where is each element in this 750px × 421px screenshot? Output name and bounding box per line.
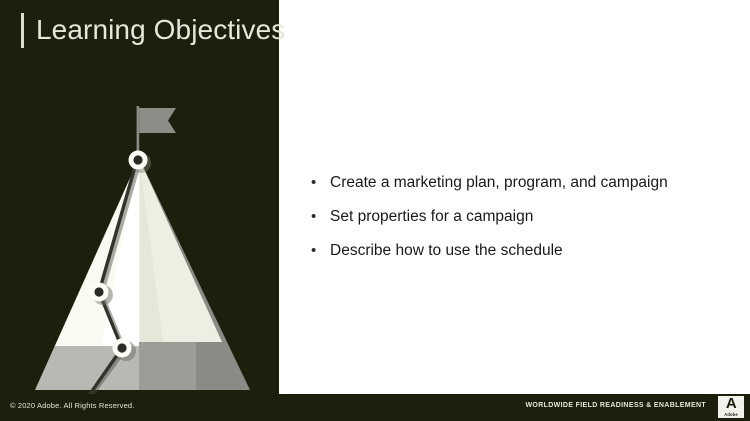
bullet-marker-icon: •	[308, 238, 330, 264]
page-title: Learning Objectives	[36, 11, 285, 49]
title-accent-bar	[21, 13, 24, 48]
flag-banner-icon	[139, 108, 176, 133]
bullet-marker-icon: •	[308, 204, 330, 230]
mountain-svg	[0, 80, 279, 394]
waypoint-summit-core	[133, 155, 142, 164]
adobe-logo: A Adobe	[718, 396, 744, 418]
adobe-wordmark: Adobe	[724, 412, 738, 417]
program-label: WORLDWIDE FIELD READINESS & ENABLEMENT	[525, 400, 706, 412]
bullet-marker-icon: •	[308, 170, 330, 196]
list-item: • Create a marketing plan, program, and …	[308, 170, 718, 196]
list-item: • Set properties for a campaign	[308, 204, 718, 230]
learning-objectives-list: • Create a marketing plan, program, and …	[308, 170, 718, 272]
adobe-a-glyph-icon: A	[726, 396, 736, 412]
list-item-label: Describe how to use the schedule	[330, 238, 563, 264]
mountain-summit-illustration	[0, 80, 279, 394]
list-item-label: Set properties for a campaign	[330, 204, 533, 230]
waypoint-lower-core	[117, 343, 126, 352]
copyright-text: © 2020 Adobe. All Rights Reserved.	[10, 400, 134, 412]
waypoint-middle-core	[94, 287, 103, 296]
slide-canvas: Learning Objectives	[0, 0, 750, 421]
list-item-label: Create a marketing plan, program, and ca…	[330, 170, 668, 196]
list-item: • Describe how to use the schedule	[308, 238, 718, 264]
